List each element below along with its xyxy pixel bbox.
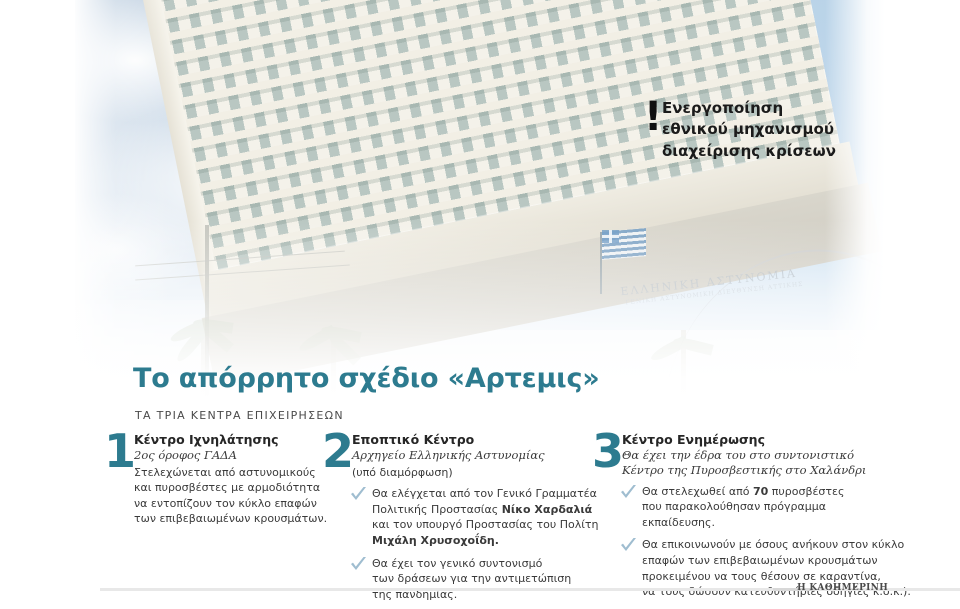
center-column-2: 2 Εποπτικό Κέντρο Αρχηγείο Ελληνικής Αστ… — [322, 432, 572, 609]
check-icon — [620, 538, 637, 553]
bullet-text: Θα ελέγχεται από τον Γενικό ΓραμματέαΠολ… — [372, 486, 572, 548]
column-subtitle-line: Κέντρο της Πυροσβεστικής στο Χαλάνδρι — [622, 463, 882, 478]
center-column-1: 1 Κέντρο Ιχνηλάτησης 2ος όροφος ΓΑΔΑ Στε… — [104, 432, 319, 527]
column-title: Κέντρο Ενημέρωσης — [622, 432, 882, 448]
callout-line-3: διαχείρισης κρίσεων — [662, 141, 872, 162]
column-subtitle: 2ος όροφος ΓΑΔΑ — [134, 448, 319, 463]
column-description: (υπό διαμόρφωση) — [352, 465, 572, 481]
bullet-item: Θα έχει τον γενικό συντονισμότων δράσεων… — [352, 556, 572, 603]
center-column-3: 3 Κέντρο Ενημέρωσης Θα έχει την έδρα του… — [592, 432, 882, 607]
callout-line-2: εθνικού μηχανισμού — [662, 119, 872, 140]
column-subtitle-line: 2ος όροφος ΓΑΔΑ — [134, 448, 319, 463]
description-line: (υπό διαμόρφωση) — [352, 465, 572, 481]
bullet-list: Θα ελέγχεται από τον Γενικό ΓραμματέαΠολ… — [352, 486, 572, 602]
column-subtitle: Θα έχει την έδρα του στο συντονιστικό Κέ… — [622, 448, 882, 478]
page-title: Το απόρρητο σχέδιο «Αρτεμις» — [133, 363, 600, 394]
bullet-item: Θα στελεχωθεί από 70 πυροσβέστεςπου παρα… — [622, 484, 882, 531]
page-kicker: ΤΑ ΤΡΙΑ ΚΕΝΤΡΑ ΕΠΙΧΕΙΡΗΣΕΩΝ — [135, 409, 344, 422]
bullet-text: Θα στελεχωθεί από 70 πυροσβέστεςπου παρα… — [642, 484, 882, 531]
callout-line-1: Ενεργοποίηση — [662, 98, 872, 119]
description-line: να εντοπίζουν τον κύκλο επαφών — [134, 496, 319, 512]
infographic-root: ΕΛΛΗΝΙΚΗ ΑΣΤΥΝΟΜΙΑ ΓΕΝΙΚΗ ΑΣΤΥΝΟΜΙΚΗ ΔΙΕ… — [0, 0, 960, 600]
column-number: 2 — [322, 428, 354, 474]
bullet-text: Θα έχει τον γενικό συντονισμότων δράσεων… — [372, 556, 572, 603]
description-line: Στελεχώνεται από αστυνομικούς — [134, 465, 319, 481]
check-icon — [350, 557, 367, 572]
column-title: Εποπτικό Κέντρο — [352, 432, 572, 448]
check-icon — [350, 487, 367, 502]
bullet-item: Θα ελέγχεται από τον Γενικό ΓραμματέαΠολ… — [352, 486, 572, 548]
palm-tree — [655, 340, 715, 400]
column-description: Στελεχώνεται από αστυνομικούς και πυροσβ… — [134, 465, 319, 527]
column-subtitle: Αρχηγείο Ελληνικής Αστυνομίας — [352, 448, 572, 463]
column-number: 1 — [104, 428, 136, 474]
hero-photo: ΕΛΛΗΝΙΚΗ ΑΣΤΥΝΟΜΙΑ ΓΕΝΙΚΗ ΑΣΤΥΝΟΜΙΚΗ ΔΙΕ… — [75, 0, 885, 400]
column-number: 3 — [592, 428, 624, 474]
publisher-brand: Η ΚΑΘΗΜΕΡΙΝΗ — [797, 583, 888, 593]
column-title: Κέντρο Ιχνηλάτησης — [134, 432, 319, 448]
description-line: των επιβεβαιωμένων κρουσμάτων. — [134, 511, 319, 527]
greek-flag-cross — [609, 230, 612, 243]
exclamation-mark-icon: ! — [644, 99, 662, 135]
column-subtitle-line: Αρχηγείο Ελληνικής Αστυνομίας — [352, 448, 572, 463]
callout-banner: ! Ενεργοποίηση εθνικού μηχανισμού διαχεί… — [662, 98, 872, 162]
check-icon — [620, 485, 637, 500]
column-subtitle-line: Θα έχει την έδρα του στο συντονιστικό — [622, 448, 882, 463]
description-line: και πυροσβέστες με αρμοδιότητα — [134, 480, 319, 496]
